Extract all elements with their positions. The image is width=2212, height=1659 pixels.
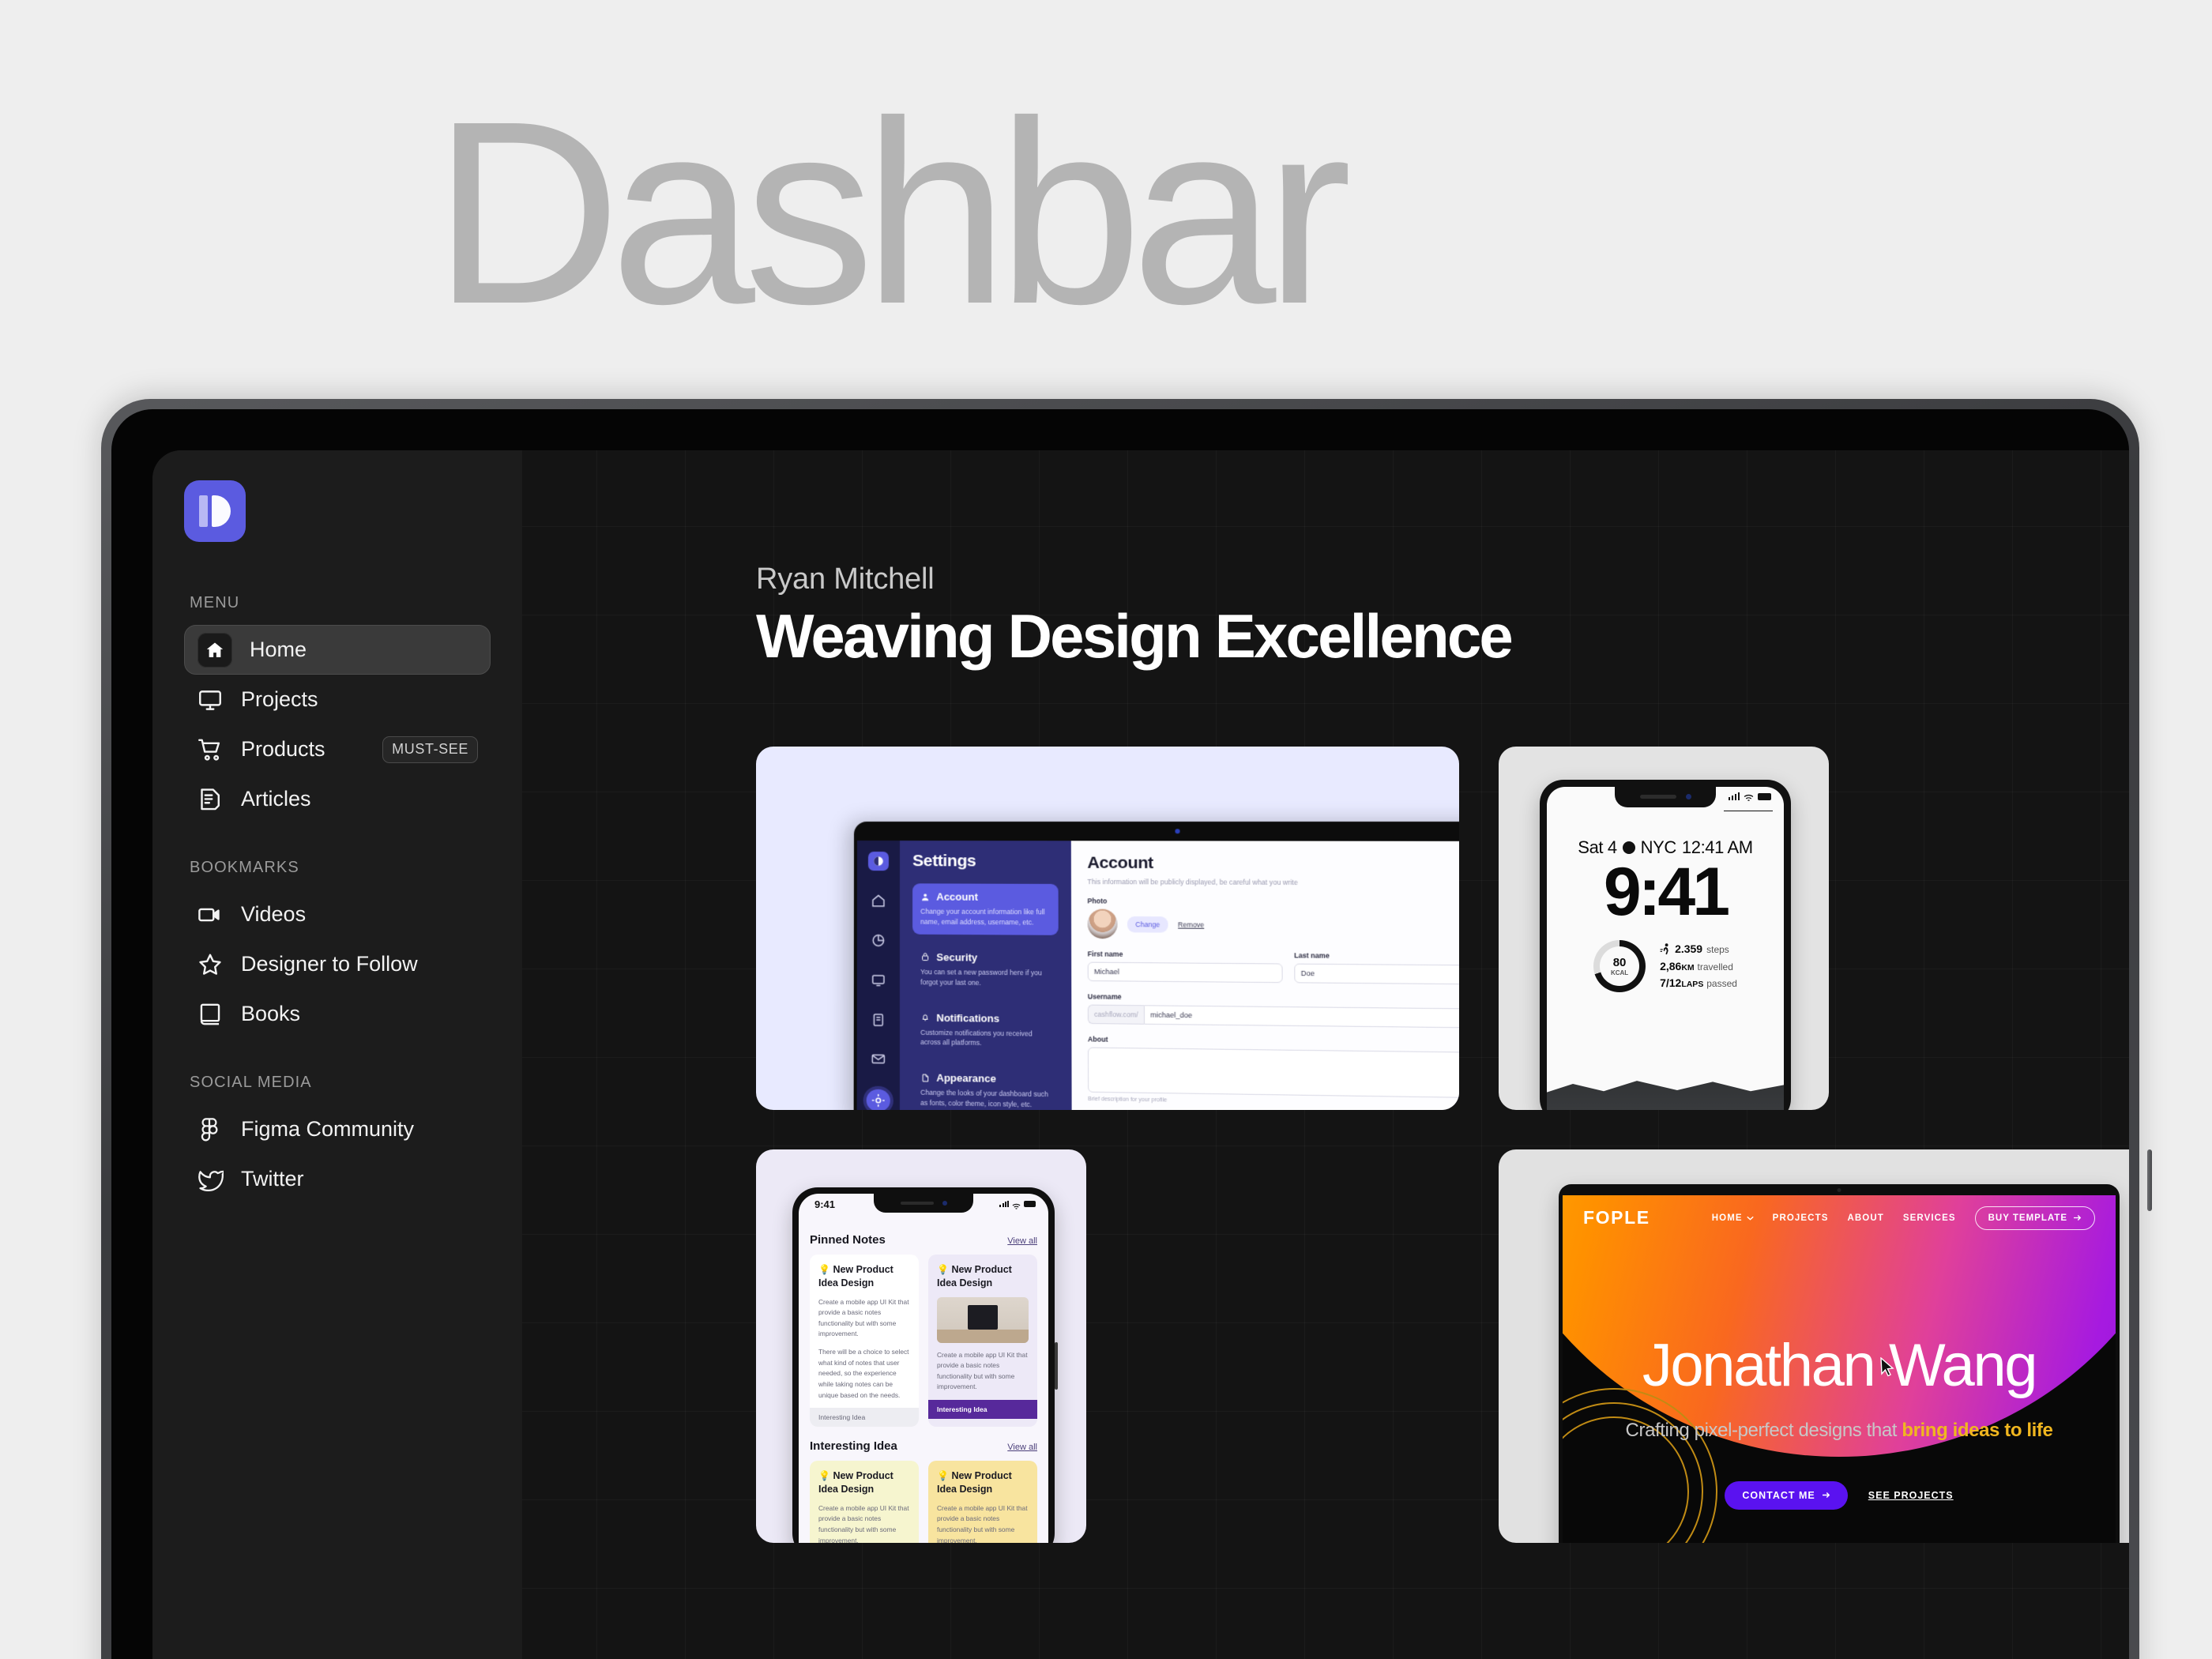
note-tag: Interesting Idea bbox=[810, 1408, 919, 1427]
sidebar-item-figma-community[interactable]: Figma Community bbox=[184, 1104, 491, 1154]
mail-icon[interactable] bbox=[868, 1050, 889, 1069]
note-paragraph: Create a mobile app UI Kit that provide … bbox=[937, 1350, 1029, 1393]
notes-section-header-pinned: Pinned Notes View all bbox=[810, 1233, 1037, 1247]
mock-photo-label: Photo bbox=[1087, 897, 1459, 906]
front-camera-icon bbox=[942, 1201, 947, 1206]
dashbar-logo-icon[interactable] bbox=[184, 480, 246, 542]
sidebar-item-label: Designer to Follow bbox=[241, 952, 418, 976]
note-paragraph: There will be a choice to select what ki… bbox=[818, 1347, 910, 1401]
mock-menu-item-desc: Change your account information like ful… bbox=[920, 906, 1050, 927]
mock-menu-item-notifications[interactable]: Notifications Customize notifications yo… bbox=[912, 1004, 1059, 1057]
sidebar-item-label: Videos bbox=[241, 902, 306, 927]
lockscreen-time: 9:41 bbox=[1547, 856, 1784, 927]
distance-unit: KM bbox=[1681, 963, 1694, 972]
page-title: Weaving Design Excellence bbox=[756, 604, 2129, 669]
sidebar-item-designer-to-follow[interactable]: Designer to Follow bbox=[184, 939, 491, 989]
hero-cta-row: CONTACT ME SEE PROJECTS bbox=[1563, 1481, 2116, 1510]
distance-word: travelled bbox=[1698, 961, 1733, 972]
status-time: 9:41 bbox=[814, 1198, 835, 1210]
book-icon bbox=[197, 1001, 224, 1028]
note-paragraph: Create a mobile app UI Kit that provide … bbox=[818, 1297, 910, 1340]
nav-link-projects[interactable]: PROJECTS bbox=[1773, 1213, 1829, 1223]
mock-settings-title: Settings bbox=[912, 852, 1058, 871]
change-photo-button[interactable]: Change bbox=[1127, 916, 1168, 932]
logo-bar-shape bbox=[199, 495, 208, 527]
monitor-icon bbox=[197, 687, 224, 713]
nav-link-home[interactable]: HOME bbox=[1712, 1213, 1754, 1223]
tablet-bezel: MENU Home Projects bbox=[111, 409, 2129, 1659]
tablet-screen: MENU Home Projects bbox=[152, 450, 2129, 1659]
mock-phone-frame: 9:41 Pinned Notes View bbox=[792, 1187, 1055, 1543]
note-paragraph: Create a mobile app UI Kit that provide … bbox=[937, 1503, 1029, 1543]
clipboard-icon[interactable] bbox=[868, 1010, 889, 1029]
showcase-card-phone-lockscreen[interactable]: Sat 4 NYC 12:41 AM 9:41 bbox=[1499, 747, 1829, 1110]
twitter-icon bbox=[197, 1166, 224, 1193]
mock-menu-item-label: Security bbox=[936, 951, 977, 964]
showcase-card-grid: Settings Account Change your account inf… bbox=[756, 747, 2129, 1543]
nav-link-about[interactable]: ABOUT bbox=[1847, 1213, 1883, 1223]
front-camera-icon bbox=[1686, 794, 1691, 799]
note-card-body: 💡 New Product Idea Design Create a mobil… bbox=[810, 1461, 919, 1543]
note-title: New Product Idea Design bbox=[937, 1470, 1012, 1495]
note-body: Create a mobile app UI Kit that provide … bbox=[937, 1503, 1029, 1543]
laps-row: 7/12LAPS passed bbox=[1660, 975, 1737, 991]
wifi-icon bbox=[1012, 1200, 1021, 1207]
status-bar bbox=[1729, 792, 1772, 800]
mock-menu-item-label: Notifications bbox=[936, 1011, 999, 1024]
bell-icon bbox=[920, 1013, 930, 1022]
note-paragraph: Create a mobile app UI Kit that provide … bbox=[818, 1503, 910, 1543]
section-title: Pinned Notes bbox=[810, 1233, 886, 1247]
note-title-row: 💡 New Product Idea Design bbox=[937, 1469, 1029, 1496]
mock-camera-icon bbox=[1175, 829, 1179, 833]
site-navbar: FOPLE HOME PROJECTS ABOUT SERVICES BUY T… bbox=[1563, 1195, 2116, 1241]
mock-panel-title: Account bbox=[1087, 853, 1459, 874]
tablet-device-frame: MENU Home Projects bbox=[101, 399, 2139, 1659]
notes-section-header-interesting: Interesting Idea View all bbox=[810, 1439, 1037, 1453]
site-nav-links: HOME PROJECTS ABOUT SERVICES BUY TEMPLAT… bbox=[1712, 1206, 2095, 1230]
buy-template-label: BUY TEMPLATE bbox=[1988, 1213, 2067, 1223]
laps-unit: LAPS bbox=[1681, 980, 1703, 989]
palette-icon bbox=[920, 1073, 930, 1082]
username-field-group: cashflow.com/ michael_doe bbox=[1088, 1004, 1459, 1028]
sidebar-item-products[interactable]: Products MUST-SEE bbox=[184, 724, 491, 774]
mock-panel-subtitle: This information will be publicly displa… bbox=[1087, 878, 1459, 887]
sidebar-item-books[interactable]: Books bbox=[184, 989, 491, 1039]
note-body: Create a mobile app UI Kit that provide … bbox=[818, 1503, 910, 1543]
note-card-body: 💡 New Product Idea Design Create a mobil… bbox=[810, 1255, 919, 1408]
laps-word: passed bbox=[1706, 978, 1737, 989]
note-title-row: 💡 New Product Idea Design bbox=[818, 1469, 910, 1496]
tagline-plain: Crafting pixel-perfect designs that bbox=[1626, 1420, 1902, 1441]
speaker-grille bbox=[901, 1202, 934, 1205]
nav-link-label: HOME bbox=[1712, 1213, 1743, 1223]
about-hint: Brief description for your profile bbox=[1088, 1097, 1459, 1108]
sidebar-item-label: Twitter bbox=[241, 1167, 304, 1191]
wallpaper-mountain-graphic bbox=[1547, 1070, 1784, 1110]
lightbulb-icon: 💡 bbox=[818, 1264, 830, 1275]
note-card[interactable]: 💡 New Product Idea Design Create a mobil… bbox=[810, 1461, 919, 1543]
sidebar-item-label: Books bbox=[241, 1002, 300, 1026]
mock-name-fields: First name Michael Last name Doe bbox=[1088, 939, 1459, 984]
user-icon bbox=[920, 892, 930, 901]
home-icon[interactable] bbox=[868, 891, 889, 910]
lightbulb-icon: 💡 bbox=[937, 1264, 949, 1275]
remove-photo-button[interactable]: Remove bbox=[1178, 920, 1204, 928]
globe-icon bbox=[1623, 841, 1635, 854]
lockscreen-clock-face: Sat 4 NYC 12:41 AM 9:41 bbox=[1547, 787, 1784, 992]
sidebar-item-videos[interactable]: Videos bbox=[184, 890, 491, 939]
mock-menu-item-title-row: Notifications bbox=[920, 1011, 1051, 1025]
mock-photo-row: Change Remove bbox=[1088, 908, 1459, 941]
last-name-field[interactable]: Doe bbox=[1294, 964, 1459, 985]
note-title: New Product Idea Design bbox=[818, 1264, 893, 1288]
mock-menu-item-title-row: Account bbox=[920, 890, 1050, 903]
note-title: New Product Idea Design bbox=[818, 1470, 893, 1495]
author-name: Ryan Mitchell bbox=[756, 562, 2129, 596]
lightbulb-icon: 💡 bbox=[937, 1470, 949, 1481]
desk-shape bbox=[937, 1330, 1029, 1342]
buy-template-button[interactable]: BUY TEMPLATE bbox=[1975, 1206, 2095, 1230]
note-title-row: 💡 New Product Idea Design bbox=[937, 1263, 1029, 1290]
mock-menu-item-label: Account bbox=[936, 890, 978, 902]
arrow-right-icon bbox=[1822, 1492, 1830, 1499]
signal-icon bbox=[1729, 792, 1740, 800]
sidebar-item-label: Projects bbox=[241, 687, 318, 712]
chevron-down-icon bbox=[1747, 1216, 1754, 1221]
sidebar-spacer bbox=[184, 824, 491, 859]
main-content: Ryan Mitchell Weaving Design Excellence bbox=[522, 450, 2129, 1659]
calorie-value: 80 bbox=[1613, 957, 1627, 969]
mock-menu-item-label: Appearance bbox=[936, 1072, 996, 1085]
note-thumbnail-image bbox=[937, 1297, 1029, 1343]
note-card[interactable]: 💡 New Product Idea Design Create a mobil… bbox=[810, 1255, 919, 1427]
sidebar-section-label-bookmarks: BOOKMARKS bbox=[190, 859, 491, 877]
mock-menu-item-account[interactable]: Account Change your account information … bbox=[912, 883, 1059, 935]
sidebar-item-label: Figma Community bbox=[241, 1117, 414, 1142]
logo-d-shape bbox=[212, 495, 231, 527]
mock-menu-item-desc: Customize notifications you received acr… bbox=[920, 1027, 1051, 1049]
username-prefix: cashflow.com/ bbox=[1088, 1004, 1144, 1024]
view-all-link[interactable]: View all bbox=[1007, 1443, 1037, 1452]
phone-notch bbox=[874, 1194, 973, 1213]
site-hero: Jonathan Wang Crafting pixel-perfect des… bbox=[1563, 1336, 2116, 1510]
notes-row-interesting: 💡 New Product Idea Design Create a mobil… bbox=[810, 1461, 1037, 1543]
calorie-ring-chart: 80 KCAL bbox=[1593, 940, 1646, 992]
hero-tagline: Crafting pixel-perfect designs that brin… bbox=[1563, 1420, 2116, 1442]
note-title-row: 💡 New Product Idea Design bbox=[818, 1263, 910, 1290]
note-card-body: 💡 New Product Idea Design Create a mobil… bbox=[928, 1461, 1037, 1543]
showcase-card-settings-dashboard[interactable]: Settings Account Change your account inf… bbox=[756, 747, 1459, 1110]
mouse-cursor-icon bbox=[1879, 1357, 1895, 1378]
battery-icon bbox=[1758, 793, 1771, 800]
view-all-link[interactable]: View all bbox=[1007, 1236, 1037, 1246]
sidebar-item-projects[interactable]: Projects bbox=[184, 675, 491, 724]
note-title: New Product Idea Design bbox=[937, 1264, 1012, 1288]
contact-me-label: CONTACT ME bbox=[1742, 1490, 1815, 1501]
first-name-label: First name bbox=[1088, 950, 1283, 959]
about-textarea[interactable] bbox=[1088, 1047, 1459, 1098]
mock-menu-item-desc: Change the looks of your dashboard such … bbox=[920, 1088, 1051, 1110]
first-name-field[interactable]: Michael bbox=[1088, 962, 1283, 984]
gear-icon[interactable] bbox=[867, 1089, 890, 1110]
signal-icon bbox=[999, 1201, 1009, 1207]
article-icon bbox=[197, 786, 224, 813]
mock-phone-screen: 9:41 Pinned Notes View bbox=[799, 1194, 1048, 1543]
sidebar-spacer bbox=[184, 1039, 491, 1074]
lock-icon bbox=[920, 952, 930, 961]
wifi-icon bbox=[1744, 792, 1754, 800]
figma-icon bbox=[197, 1116, 224, 1143]
main-scroll-area: Ryan Mitchell Weaving Design Excellence bbox=[522, 450, 2129, 1543]
mock-settings-sidebar: Settings Account Change your account inf… bbox=[900, 841, 1072, 1110]
mock-icon-rail bbox=[857, 841, 900, 1110]
steps-row: 2.359 steps bbox=[1660, 941, 1737, 957]
activity-stats: 2.359 steps 2,86KM travelled bbox=[1660, 941, 1737, 991]
note-card[interactable]: 💡 New Product Idea Design Create bbox=[928, 1255, 1037, 1427]
sidebar-section-label-social-media: SOCIAL MEDIA bbox=[190, 1074, 491, 1092]
front-camera-icon bbox=[1838, 1188, 1841, 1192]
note-body: Create a mobile app UI Kit that provide … bbox=[818, 1297, 910, 1401]
showcase-card-notes-phone[interactable]: 9:41 Pinned Notes View bbox=[756, 1149, 1086, 1543]
note-card[interactable]: 💡 New Product Idea Design Create a mobil… bbox=[928, 1461, 1037, 1543]
pie-chart-icon[interactable] bbox=[868, 931, 889, 950]
sidebar: MENU Home Projects bbox=[152, 450, 522, 1659]
showcase-card-portfolio-site[interactable]: FOPLE HOME PROJECTS ABOUT SERVICES BUY T… bbox=[1499, 1149, 2129, 1543]
contact-me-button[interactable]: CONTACT ME bbox=[1725, 1481, 1847, 1510]
activity-widget[interactable]: 80 KCAL 2.3 bbox=[1547, 940, 1784, 992]
sidebar-item-label: Home bbox=[250, 638, 307, 662]
mock-screen: FOPLE HOME PROJECTS ABOUT SERVICES BUY T… bbox=[1563, 1195, 2116, 1543]
site-logo[interactable]: FOPLE bbox=[1583, 1207, 1650, 1228]
status-badge: MUST-SEE bbox=[382, 736, 478, 763]
phone-notch bbox=[1615, 787, 1716, 807]
phone-side-button[interactable] bbox=[1055, 1342, 1058, 1390]
section-title: Interesting Idea bbox=[810, 1439, 897, 1453]
distance-row: 2,86KM travelled bbox=[1660, 958, 1737, 975]
mock-tablet-frame: Settings Account Change your account inf… bbox=[854, 822, 1459, 1110]
home-icon bbox=[197, 633, 232, 668]
about-label: About bbox=[1088, 1035, 1459, 1048]
mock-screen: Settings Account Change your account inf… bbox=[857, 841, 1459, 1110]
mock-menu-item-title-row: Security bbox=[920, 951, 1050, 964]
battery-icon bbox=[1024, 1201, 1036, 1207]
backdrop-wordmark: Dashbar bbox=[433, 88, 1341, 337]
star-icon bbox=[197, 951, 224, 978]
screenshot-stage: Dashbar MENU Home bbox=[0, 0, 2212, 1659]
distance-value: 2,86 bbox=[1660, 960, 1681, 972]
sidebar-item-home[interactable]: Home bbox=[184, 625, 491, 675]
calorie-ring-inner: 80 KCAL bbox=[1600, 946, 1639, 986]
nav-link-services[interactable]: SERVICES bbox=[1903, 1213, 1956, 1223]
tagline-accent: bring ideas to life bbox=[1902, 1420, 2052, 1441]
sidebar-item-twitter[interactable]: Twitter bbox=[184, 1154, 491, 1204]
status-bar bbox=[999, 1200, 1036, 1207]
lightbulb-icon: 💡 bbox=[818, 1470, 830, 1481]
tablet-power-button[interactable] bbox=[2147, 1149, 2152, 1211]
laps-value: 7/12 bbox=[1660, 976, 1681, 989]
mock-menu-item-desc: You can set a new password here if you f… bbox=[920, 967, 1050, 989]
steps-value: 2.359 bbox=[1675, 941, 1702, 957]
hero-name: Jonathan Wang bbox=[1563, 1336, 2116, 1396]
username-field[interactable]: michael_doe bbox=[1144, 1005, 1459, 1028]
mock-menu-item-appearance[interactable]: Appearance Change the looks of your dash… bbox=[912, 1064, 1059, 1110]
mock-tablet-frame: FOPLE HOME PROJECTS ABOUT SERVICES BUY T… bbox=[1559, 1184, 2120, 1543]
username-label: Username bbox=[1088, 992, 1459, 1004]
sidebar-section-label-menu: MENU bbox=[190, 594, 491, 612]
notes-row-pinned: 💡 New Product Idea Design Create a mobil… bbox=[810, 1255, 1037, 1427]
note-body: Create a mobile app UI Kit that provide … bbox=[937, 1350, 1029, 1393]
avatar bbox=[1088, 908, 1118, 939]
note-card-body: 💡 New Product Idea Design Create bbox=[928, 1255, 1037, 1400]
note-tag: Interesting Idea bbox=[928, 1400, 1037, 1419]
last-name-label: Last name bbox=[1294, 951, 1459, 961]
status-divider bbox=[1724, 811, 1773, 812]
speaker-grille bbox=[1640, 795, 1676, 799]
sidebar-item-label: Articles bbox=[241, 787, 311, 811]
sidebar-item-articles[interactable]: Articles bbox=[184, 774, 491, 824]
mock-phone-screen: Sat 4 NYC 12:41 AM 9:41 bbox=[1547, 787, 1784, 1110]
mock-account-panel: Account This information will be publicl… bbox=[1071, 841, 1459, 1110]
calorie-unit: KCAL bbox=[1611, 970, 1628, 976]
brand-logo-icon[interactable] bbox=[868, 852, 889, 871]
mock-menu-item-security[interactable]: Security You can set a new password here… bbox=[912, 943, 1059, 995]
sidebar-item-label: Products bbox=[241, 737, 325, 762]
mock-phone-frame: Sat 4 NYC 12:41 AM 9:41 bbox=[1540, 780, 1791, 1110]
running-person-icon bbox=[1660, 943, 1671, 956]
steps-word: steps bbox=[1706, 942, 1729, 957]
cart-icon bbox=[197, 736, 224, 763]
monitor-icon[interactable] bbox=[868, 970, 889, 989]
mock-menu-item-title-row: Appearance bbox=[920, 1072, 1051, 1086]
arrow-right-icon bbox=[2073, 1214, 2082, 1221]
video-camera-icon bbox=[197, 901, 224, 928]
see-projects-link[interactable]: SEE PROJECTS bbox=[1868, 1490, 1954, 1501]
monitor-shape bbox=[968, 1305, 997, 1330]
